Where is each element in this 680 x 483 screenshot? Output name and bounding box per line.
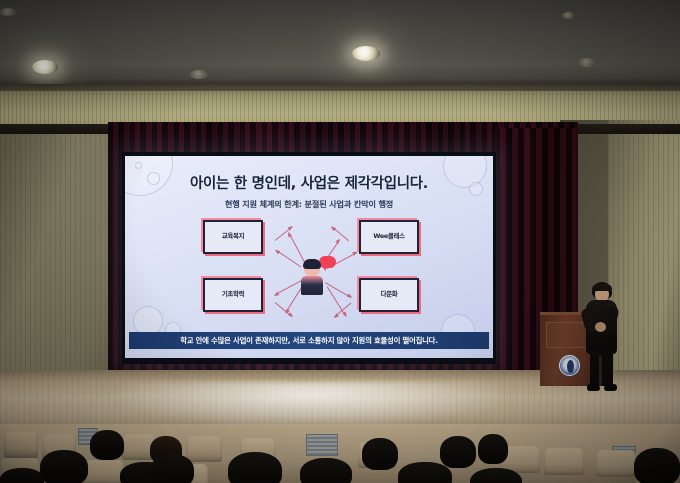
diagram-node-education-welfare: 교육복지	[203, 220, 263, 254]
auditorium-photo: 아이는 한 명인데, 사업은 제각각입니다. 현행 지원 체계의 한계: 분절된…	[0, 0, 680, 483]
diagram-node-basic-academics: 기초학력	[203, 278, 263, 312]
seat	[596, 450, 636, 477]
slide-surface: 아이는 한 명인데, 사업은 제각각입니다. 현행 지원 체계의 한계: 분절된…	[125, 156, 493, 358]
audience-head	[300, 458, 352, 483]
speech-bubble-icon	[319, 256, 336, 268]
presenter-hair-front	[592, 284, 612, 291]
presenter-shoe-left	[587, 384, 600, 391]
slide-title: 아이는 한 명인데, 사업은 제각각입니다.	[125, 172, 493, 193]
decor-bubble-3	[135, 162, 142, 169]
wall-vent-2	[306, 434, 338, 456]
floor-reflection	[120, 382, 500, 426]
slide-subtitle: 현행 지원 체계의 한계: 분절된 사업과 칸막이 행정	[125, 198, 493, 210]
presenter-shoe-right	[604, 384, 617, 391]
diagram-node-label: 교육복지	[205, 231, 261, 240]
presenter-hands	[595, 322, 606, 332]
presenter-legs	[590, 352, 613, 386]
audience-head	[440, 436, 476, 468]
ceiling	[0, 0, 680, 92]
diagram-center-child-icon	[295, 256, 329, 298]
child-body	[301, 276, 323, 295]
audience-head	[150, 454, 194, 483]
presenter	[578, 282, 624, 394]
projection-screen: 아이는 한 명인데, 사업은 제각각입니다. 현행 지원 체계의 한계: 분절된…	[122, 152, 496, 364]
diagram-node-multicultural: 다문화	[359, 278, 419, 312]
seat	[544, 448, 584, 475]
diagram-node-label: Wee클래스	[361, 231, 417, 240]
ceiling-light-1	[32, 60, 58, 74]
diagram-node-wee-class: Wee클래스	[359, 220, 419, 254]
ceiling-light-3	[190, 70, 208, 79]
audience-head	[478, 434, 508, 464]
audience-head	[228, 452, 282, 483]
audience-head	[362, 438, 398, 470]
audience-head	[0, 468, 44, 483]
school-crest-icon	[559, 355, 580, 376]
ceiling-light-6	[0, 8, 16, 16]
child-hair	[303, 259, 321, 269]
diagram-node-label: 다문화	[361, 289, 417, 298]
slide-caption-text: 학교 안에 수많은 사업이 존재하지만, 서로 소통하지 않아 지원의 효율성이…	[180, 335, 438, 346]
ceiling-light-2	[352, 46, 380, 61]
audience-head	[398, 462, 452, 483]
slide-diagram: 교육복지 Wee클래스 기초학력 다문화	[183, 218, 441, 322]
slide-caption-bar: 학교 안에 수많은 사업이 존재하지만, 서로 소통하지 않아 지원의 효율성이…	[129, 332, 489, 349]
audience-head	[40, 450, 88, 483]
ceiling-light-5	[578, 58, 596, 67]
diagram-node-label: 기초학력	[205, 289, 261, 298]
seat	[4, 432, 38, 458]
audience-area	[0, 424, 680, 483]
audience-head	[90, 430, 124, 460]
seat	[186, 436, 222, 462]
ceiling-light-7	[562, 12, 574, 19]
audience-head	[634, 448, 680, 483]
seat	[84, 460, 124, 483]
